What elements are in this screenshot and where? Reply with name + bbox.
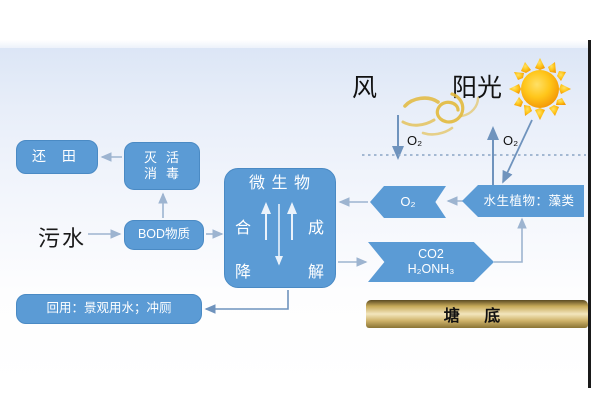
node-carbon-dioxide[interactable]: CO2 H₂ONH₃	[368, 242, 494, 282]
node-return-to-field[interactable]: 还 田	[16, 140, 98, 174]
node-label: 水生植物：藻类	[471, 194, 574, 209]
sun-icon	[508, 57, 572, 121]
label-degradation-right: 解	[308, 265, 325, 281]
label-wind: 风	[352, 68, 377, 104]
node-microorganism[interactable]: 微 生 物 合 成 降 解	[224, 168, 336, 288]
pond-bottom-label: 塘 底	[444, 302, 510, 326]
label-oxygen-out: O₂	[503, 133, 518, 148]
pond-bottom-bar: 塘 底	[366, 300, 588, 328]
degradation-row: 降 解	[235, 265, 325, 281]
node-label: 还 田	[32, 148, 82, 166]
carbon-line-1: CO2	[408, 247, 455, 262]
label-synthesis-left: 合	[235, 221, 252, 237]
diagram-canvas: 还 田 灭 活 消 毒 BOD物质 回用：景观用水；冲厕 污水 微 生 物 合 …	[0, 0, 600, 400]
disinfection-char-3: 消	[144, 166, 158, 182]
carbon-line-2: H₂ONH₃	[408, 262, 455, 277]
label-synthesis-right: 成	[308, 221, 325, 237]
disinfection-char-1: 灭	[144, 150, 158, 166]
right-border	[588, 40, 591, 388]
disinfection-char-4: 毒	[166, 166, 180, 182]
synthesis-row: 合 成	[235, 221, 325, 237]
node-label: 回用：景观用水；冲厕	[46, 301, 171, 317]
wind-swirl-icon	[398, 82, 484, 144]
node-oxygen[interactable]: O₂	[370, 186, 446, 218]
label-wastewater: 污水	[38, 221, 86, 253]
node-label: O₂	[400, 194, 415, 210]
node-water-reuse[interactable]: 回用：景观用水；冲厕	[16, 294, 202, 324]
disinfection-char-2: 活	[166, 150, 180, 166]
node-label: BOD物质	[138, 227, 190, 243]
microorganism-title-row: 微 生 物	[235, 176, 325, 192]
node-disinfection[interactable]: 灭 活 消 毒	[124, 142, 200, 190]
microorganism-title: 微 生 物	[249, 176, 311, 192]
node-aquatic-plants[interactable]: 水生植物：藻类	[462, 185, 584, 217]
node-bod-substance[interactable]: BOD物质	[124, 220, 204, 250]
carbon-lines: CO2 H₂ONH₃	[408, 247, 455, 277]
label-degradation-left: 降	[235, 265, 252, 281]
disinfection-char-grid: 灭 活 消 毒	[144, 150, 180, 183]
